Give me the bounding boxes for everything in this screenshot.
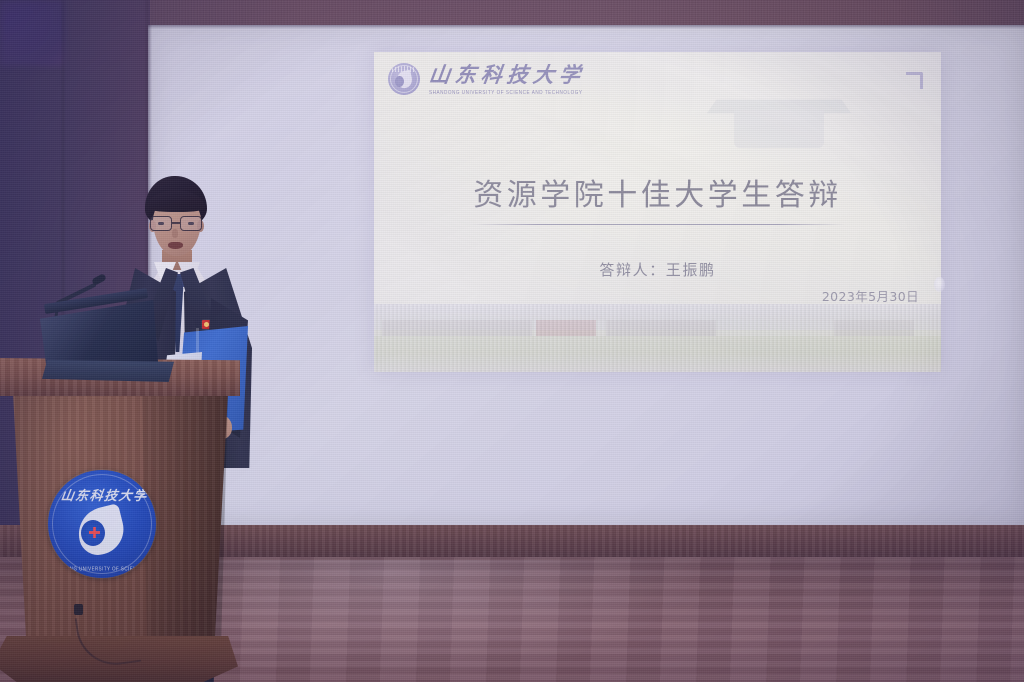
nose (172, 229, 178, 238)
mouth (168, 242, 183, 249)
lens-glare-spot (934, 277, 945, 292)
wall-corner-dark-patch (0, 0, 64, 66)
laptop-keyboard-base (42, 360, 174, 382)
floor-light-reflection (180, 560, 700, 680)
university-name-en: SHANDONG UNIVERSITY OF SCIENCE AND TECHN… (429, 89, 585, 95)
lectern-university-emblem: 山东科技大学 SHANDONG UNIVERSITY OF SCIENCE AN… (48, 470, 156, 578)
slide-title-divider (470, 224, 845, 225)
slide-header: 山东科技大学 SHANDONG UNIVERSITY OF SCIENCE AN… (388, 63, 585, 95)
screen-edge-top (148, 25, 1024, 29)
presentation-photo-scene: 山东科技大学 SHANDONG UNIVERSITY OF SCIENCE AN… (0, 0, 1024, 682)
university-seal-icon (388, 63, 420, 95)
graduation-cap-watermark (704, 82, 854, 162)
university-name-cn: 山东科技大学 (428, 64, 587, 86)
slide-title: 资源学院十佳大学生答辩 (374, 170, 941, 214)
campus-panorama-photo (374, 304, 941, 372)
emblem-name-en: SHANDONG UNIVERSITY OF SCIENCE AND TECHN… (48, 566, 156, 572)
slide-date: 2023年5月30日 (822, 286, 919, 305)
emblem-name-cn: 山东科技大学 (60, 485, 145, 504)
slide-presenter: 答辩人：王振鹏 (374, 259, 941, 280)
projected-slide: 山东科技大学 SHANDONG UNIVERSITY OF SCIENCE AN… (374, 52, 941, 372)
university-wordmark: 山东科技大学 SHANDONG UNIVERSITY OF SCIENCE AN… (429, 63, 585, 94)
cable-plug (74, 604, 83, 615)
corner-bracket-icon (906, 72, 923, 89)
